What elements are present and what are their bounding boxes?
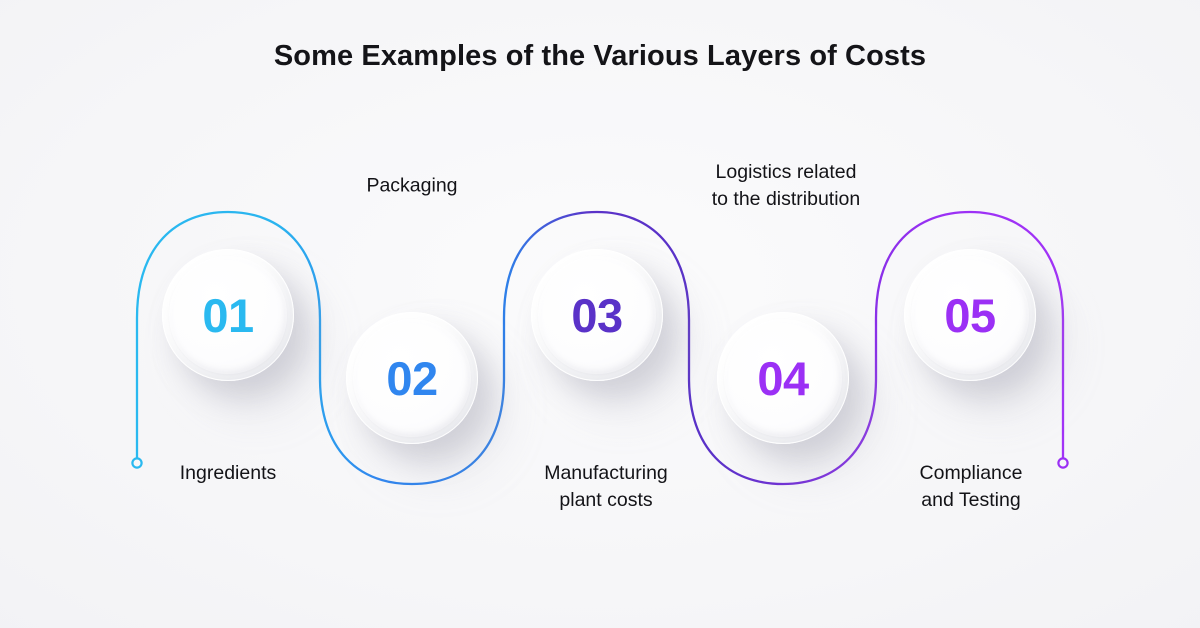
step-node-05[interactable]: 05 (904, 249, 1036, 381)
step-label-05: Compliance and Testing (821, 460, 1121, 514)
step-number: 02 (386, 355, 437, 402)
step-number: 01 (202, 292, 253, 339)
infographic-canvas: Some Examples of the Various Layers of C… (0, 0, 1200, 628)
step-label-01: Ingredients (78, 460, 378, 487)
step-node-03[interactable]: 03 (531, 249, 663, 381)
step-node-02[interactable]: 02 (346, 312, 478, 444)
step-label-04: Logistics related to the distribution (636, 159, 936, 213)
step-number: 04 (757, 355, 808, 402)
step-node-04[interactable]: 04 (717, 312, 849, 444)
step-label-03: Manufacturing plant costs (456, 460, 756, 514)
step-label-02: Packaging (262, 173, 562, 200)
step-number: 03 (571, 292, 622, 339)
step-node-01[interactable]: 01 (162, 249, 294, 381)
step-number: 05 (944, 292, 995, 339)
